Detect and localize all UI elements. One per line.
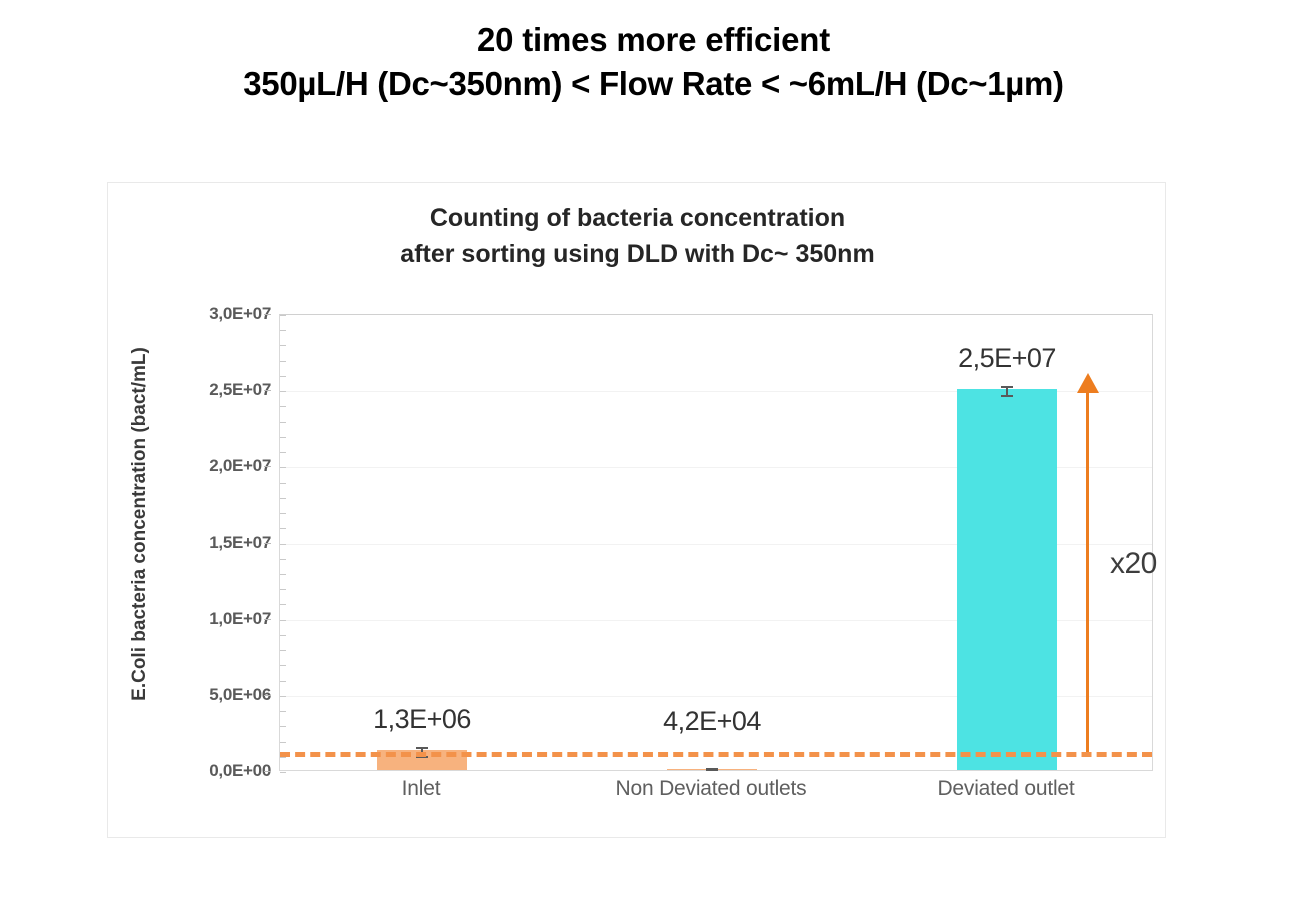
y-axis-tick-label: 2,0E+07 bbox=[161, 456, 271, 476]
y-axis-minor-tick bbox=[280, 345, 286, 346]
y-axis-minor-tick bbox=[280, 422, 286, 423]
chart-card: Counting of bacteria concentration after… bbox=[107, 182, 1166, 838]
error-bar-non-deviated-outlets bbox=[711, 768, 713, 771]
data-label-deviated-outlet: 2,5E+07 bbox=[958, 343, 1056, 374]
y-axis-minor-tick bbox=[280, 406, 286, 407]
y-axis-minor-tick bbox=[280, 726, 286, 727]
error-bar-cap-top bbox=[1001, 386, 1013, 388]
slide-heading-line-2: 350µL/H (Dc~350nm) < Flow Rate < ~6mL/H … bbox=[0, 62, 1307, 106]
y-axis-tick-label: 5,0E+06 bbox=[161, 685, 271, 705]
y-axis-title: E.Coli bacteria concentration (bact/mL) bbox=[129, 264, 151, 784]
y-axis-minor-tick bbox=[280, 467, 286, 468]
chart-title: Counting of bacteria concentration after… bbox=[108, 201, 1167, 272]
y-axis-major-tick bbox=[264, 695, 271, 696]
error-bar-deviated-outlet bbox=[1006, 386, 1008, 397]
ratio-arrow-head-icon bbox=[1077, 373, 1099, 393]
y-axis-minor-tick bbox=[280, 452, 286, 453]
ratio-arrow-shaft bbox=[1086, 387, 1089, 752]
y-axis-minor-tick bbox=[280, 498, 286, 499]
y-axis-minor-tick bbox=[280, 635, 286, 636]
y-axis-minor-tick bbox=[280, 544, 286, 545]
chart-title-line-2: after sorting using DLD with Dc~ 350nm bbox=[108, 237, 1167, 273]
y-axis-minor-tick bbox=[280, 650, 286, 651]
y-axis-minor-tick bbox=[280, 391, 286, 392]
y-axis-minor-tick bbox=[280, 483, 286, 484]
y-axis-major-tick bbox=[264, 314, 271, 315]
data-label-non-deviated-outlets: 4,2E+04 bbox=[663, 706, 761, 737]
y-axis-major-tick bbox=[264, 466, 271, 467]
error-bar-cap-top bbox=[416, 747, 428, 749]
y-axis-minor-tick bbox=[280, 665, 286, 666]
slide-heading-line-1: 20 times more efficient bbox=[0, 18, 1307, 62]
reference-line bbox=[280, 752, 1152, 757]
y-axis-minor-tick bbox=[280, 574, 286, 575]
y-axis-tick-label: 1,0E+07 bbox=[161, 609, 271, 629]
x-axis-tick-label: Inlet bbox=[402, 777, 441, 801]
y-axis-minor-tick bbox=[280, 330, 286, 331]
y-axis-minor-tick bbox=[280, 681, 286, 682]
y-axis-minor-tick bbox=[280, 437, 286, 438]
chart-title-line-1: Counting of bacteria concentration bbox=[108, 201, 1167, 237]
bar-deviated-outlet[interactable] bbox=[957, 389, 1057, 770]
y-axis-major-tick bbox=[264, 771, 271, 772]
y-axis-minor-tick bbox=[280, 711, 286, 712]
y-axis-minor-tick bbox=[280, 772, 286, 773]
y-axis-tick-labels: 0,0E+005,0E+061,0E+071,5E+072,0E+072,5E+… bbox=[156, 314, 271, 771]
y-axis-tick-label: 2,5E+07 bbox=[161, 380, 271, 400]
slide-heading: 20 times more efficient 350µL/H (Dc~350n… bbox=[0, 18, 1307, 106]
error-bar-cap-bottom bbox=[1001, 395, 1013, 397]
y-axis-tick-label: 0,0E+00 bbox=[161, 761, 271, 781]
ratio-annotation-label: x20 bbox=[1110, 547, 1157, 581]
y-axis-minor-tick bbox=[280, 528, 286, 529]
x-axis-tick-label: Deviated outlet bbox=[937, 777, 1074, 801]
y-axis-minor-tick bbox=[280, 742, 286, 743]
y-axis-minor-tick bbox=[280, 589, 286, 590]
error-bar-cap-bottom bbox=[706, 769, 718, 771]
y-axis-major-tick bbox=[264, 543, 271, 544]
y-axis-minor-tick bbox=[280, 513, 286, 514]
y-axis-minor-tick bbox=[280, 559, 286, 560]
y-axis-tick-label: 3,0E+07 bbox=[161, 304, 271, 324]
data-label-inlet: 1,3E+06 bbox=[373, 704, 471, 735]
y-axis-minor-tick bbox=[280, 376, 286, 377]
x-axis-tick-label: Non Deviated outlets bbox=[616, 777, 807, 801]
y-axis-minor-tick bbox=[280, 361, 286, 362]
y-axis-minor-tick bbox=[280, 604, 286, 605]
y-axis-major-tick bbox=[264, 390, 271, 391]
y-axis-minor-tick bbox=[280, 620, 286, 621]
plot-area: 1,3E+06 4,2E+04 2,5E+07 x20 bbox=[279, 314, 1153, 771]
y-axis-minor-tick bbox=[280, 696, 286, 697]
y-axis-major-tick bbox=[264, 619, 271, 620]
y-axis-tick-label: 1,5E+07 bbox=[161, 533, 271, 553]
y-axis-minor-tick bbox=[280, 315, 286, 316]
x-axis-tick-labels: InletNon Deviated outletsDeviated outlet bbox=[279, 777, 1153, 817]
